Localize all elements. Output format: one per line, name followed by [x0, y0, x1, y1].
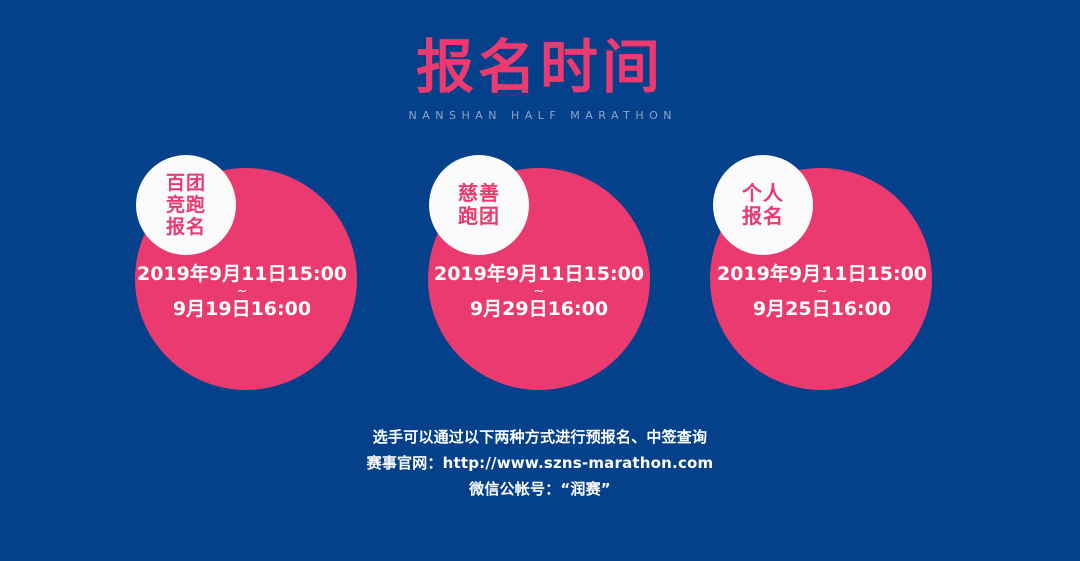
- range-separator: ~: [375, 286, 703, 297]
- footer-official-website[interactable]: 赛事官网：http://www.szns-marathon.com: [0, 450, 1080, 476]
- registration-badge-charity[interactable]: 慈善 跑团: [429, 155, 529, 255]
- registration-start: 2019年9月11日15:00: [658, 262, 986, 286]
- registration-group-individual: 2019年9月11日15:00 ~ 9月25日16:00 个人 报名: [682, 150, 982, 400]
- badge-label: 个人 报名: [742, 182, 784, 228]
- registration-period: 2019年9月11日15:00 ~ 9月29日16:00: [375, 262, 703, 321]
- poster-header: 报名时间 NANSHAN HALF MARATHON: [0, 34, 1080, 123]
- registration-badge-individual[interactable]: 个人 报名: [713, 155, 813, 255]
- registration-group-charity: 2019年9月11日15:00 ~ 9月29日16:00 慈善 跑团: [391, 150, 691, 400]
- range-separator: ~: [78, 286, 406, 297]
- registration-period: 2019年9月11日15:00 ~ 9月25日16:00: [658, 262, 986, 321]
- badge-label: 百团 竞跑 报名: [166, 172, 206, 238]
- registration-period: 2019年9月11日15:00 ~ 9月19日16:00: [78, 262, 406, 321]
- registration-end: 9月29日16:00: [375, 297, 703, 321]
- range-separator: ~: [658, 286, 986, 297]
- registration-end: 9月25日16:00: [658, 297, 986, 321]
- badge-label: 慈善 跑团: [458, 182, 500, 228]
- footer-wechat-account: 微信公帐号：“润赛”: [0, 476, 1080, 502]
- registration-badge-team[interactable]: 百团 竞跑 报名: [136, 155, 236, 255]
- registration-start: 2019年9月11日15:00: [78, 262, 406, 286]
- footer-instruction: 选手可以通过以下两种方式进行预报名、中签查询: [0, 424, 1080, 450]
- registration-time-poster: 报名时间 NANSHAN HALF MARATHON 2019年9月11日15:…: [0, 0, 1080, 561]
- page-subtitle: NANSHAN HALF MARATHON: [0, 109, 1080, 123]
- registration-group-team: 2019年9月11日15:00 ~ 9月19日16:00 百团 竞跑 报名: [90, 150, 390, 400]
- registration-end: 9月19日16:00: [78, 297, 406, 321]
- page-title: 报名时间: [0, 34, 1080, 100]
- registration-start: 2019年9月11日15:00: [375, 262, 703, 286]
- poster-footer: 选手可以通过以下两种方式进行预报名、中签查询 赛事官网：http://www.s…: [0, 424, 1080, 502]
